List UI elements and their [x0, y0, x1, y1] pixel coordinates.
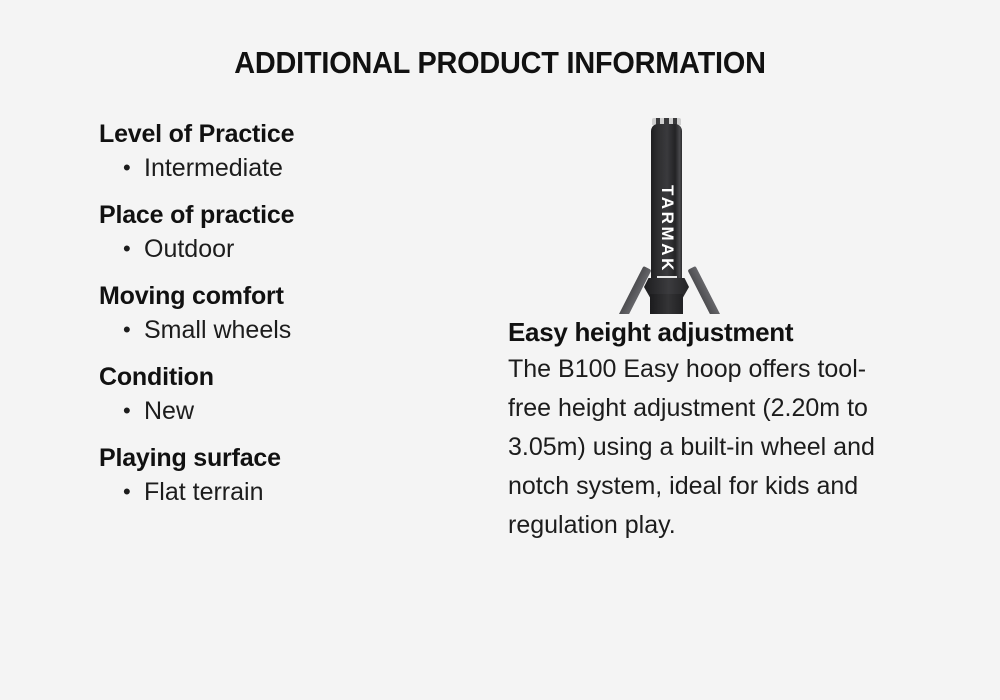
page-title: ADDITIONAL PRODUCT INFORMATION: [35, 45, 965, 81]
feature-block: Easy height adjustment The B100 Easy hoo…: [508, 314, 928, 545]
spec-value-item: • Flat terrain: [123, 474, 489, 510]
spec-group: Moving comfort • Small wheels: [99, 280, 489, 348]
spec-value-label: Flat terrain: [144, 478, 263, 506]
spec-value-list: • New: [99, 393, 489, 429]
pole-strut-right: [687, 266, 721, 314]
spec-group: Place of practice • Outdoor: [99, 199, 489, 267]
product-info-page: ADDITIONAL PRODUCT INFORMATION Level of …: [0, 0, 1000, 700]
spec-value-item: • Intermediate: [123, 150, 489, 186]
spec-value-list: • Small wheels: [99, 312, 489, 348]
pole-body: [651, 124, 682, 294]
product-image: TARMAK: [508, 118, 928, 314]
bullet-icon: •: [123, 312, 131, 348]
spec-value-label: Intermediate: [144, 154, 283, 182]
spec-value-item: • Outdoor: [123, 231, 489, 267]
bullet-icon: •: [123, 474, 131, 510]
bullet-icon: •: [123, 393, 131, 429]
feature-body: The B100 Easy hoop offers tool-free heig…: [508, 350, 880, 545]
feature-heading: Easy height adjustment: [508, 314, 928, 350]
spec-heading: Playing surface: [99, 442, 489, 474]
spec-group: Playing surface • Flat terrain: [99, 442, 489, 510]
pole-foot: [650, 294, 683, 314]
spec-group: Level of Practice • Intermediate: [99, 118, 489, 186]
spec-value-label: Small wheels: [144, 316, 291, 344]
spec-heading: Place of practice: [99, 199, 489, 231]
spec-heading: Level of Practice: [99, 118, 489, 150]
spec-value-list: • Flat terrain: [99, 474, 489, 510]
spec-list: Level of Practice • Intermediate Place o…: [99, 118, 489, 510]
spec-heading: Moving comfort: [99, 280, 489, 312]
spec-heading: Condition: [99, 361, 489, 393]
hoop-pole-illustration: TARMAK: [619, 118, 719, 314]
bullet-icon: •: [123, 150, 131, 186]
spec-value-label: Outdoor: [144, 235, 234, 263]
bullet-icon: •: [123, 231, 131, 267]
spec-group: Condition • New: [99, 361, 489, 429]
spec-value-label: New: [144, 397, 194, 425]
spec-value-item: • Small wheels: [123, 312, 489, 348]
spec-value-list: • Intermediate: [99, 150, 489, 186]
content-columns: Level of Practice • Intermediate Place o…: [0, 118, 1000, 678]
spec-value-list: • Outdoor: [99, 231, 489, 267]
spec-value-item: • New: [123, 393, 489, 429]
